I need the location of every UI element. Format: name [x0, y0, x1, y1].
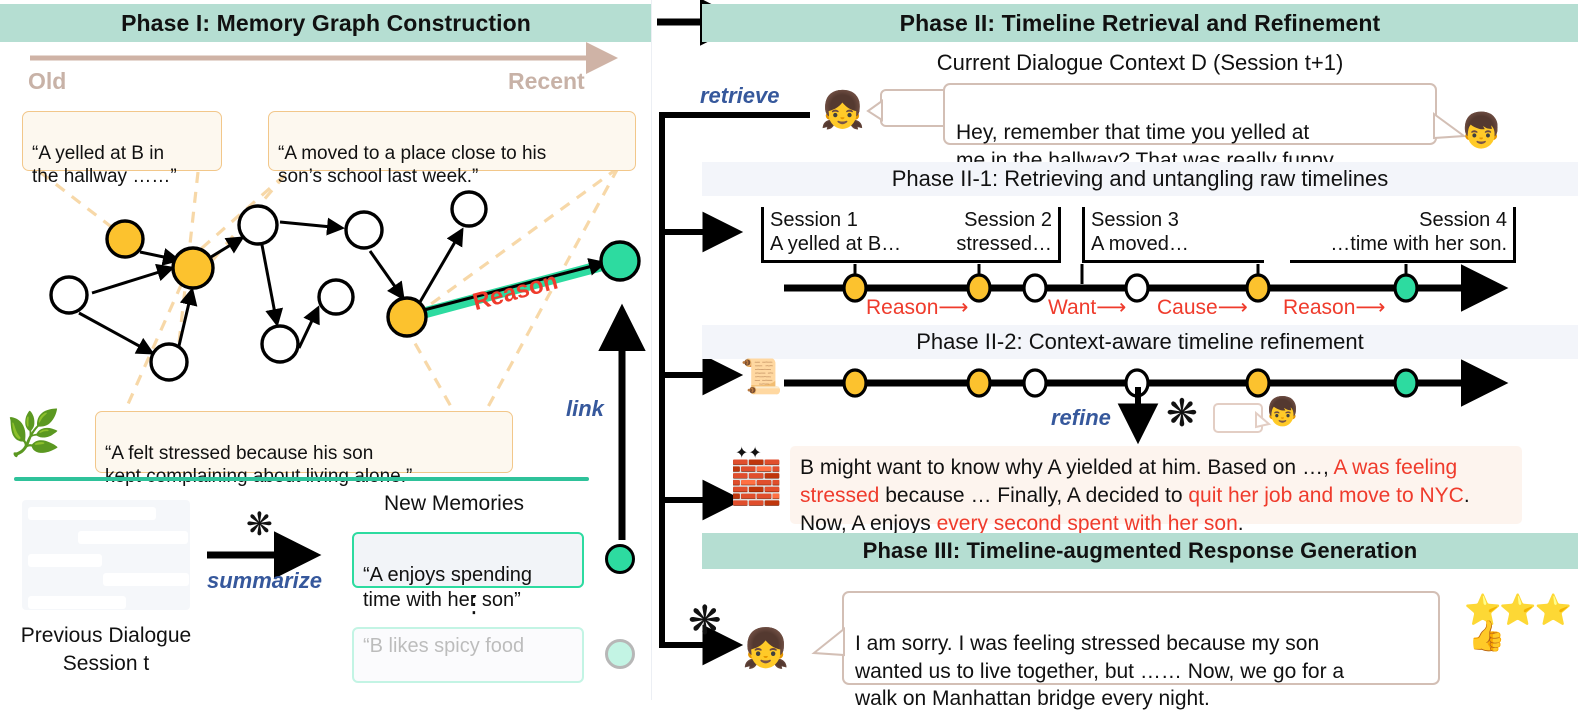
new-memory-1: “A enjoys spending time with her son” [352, 532, 584, 588]
placeholder-line [103, 573, 189, 586]
refined-summary-box: B might want to know why A yielded at hi… [790, 446, 1522, 524]
link-label: link [566, 396, 604, 422]
relation-label-2: Want⟶ [1048, 295, 1126, 320]
new-memory-2: “B likes spicy food [352, 627, 584, 683]
avatar-boy-small: 👦 [1265, 398, 1300, 426]
timeline-dot [844, 370, 866, 396]
assistant-response-bubble: I am sorry. I was feeling stressed becau… [842, 591, 1440, 685]
avatar-boy-right: 👦 [1460, 114, 1502, 148]
link-arrow [600, 300, 650, 545]
relation-arrow-icon: ⟶ [1218, 296, 1248, 319]
refined-plain: B might want to know why A yielded at hi… [800, 456, 1333, 479]
column-divider [651, 0, 652, 700]
refined-highlight: quit her job and move to NYC [1188, 484, 1463, 507]
section-divider [14, 477, 589, 481]
assistant-response-text: I am sorry. I was feeling stressed becau… [855, 632, 1344, 710]
session-2-title: Session 2 [919, 209, 1052, 233]
session-3-title: Session 3 [1091, 209, 1264, 233]
timeline-dot [1247, 275, 1269, 301]
new-memory-1-text: “A enjoys spending time with her son” [363, 564, 532, 610]
new-memory-node-1 [605, 544, 635, 574]
session-1-title: Session 1 [770, 209, 919, 233]
new-memory-2-text: “B likes spicy food [363, 635, 524, 657]
avatar-girl-response: 👧 [742, 630, 789, 668]
timeline-dot [1024, 370, 1046, 396]
timeline-dot [1126, 275, 1148, 301]
phase2-banner-label: Phase II: Timeline Retrieval and Refinem… [900, 10, 1381, 37]
treasure-chest-icon: 🧱 [730, 462, 782, 504]
relation-4-text: Reason [1283, 296, 1355, 319]
new-memories-ellipsis: ⋮ [462, 590, 486, 619]
openai-logo-icon: ❋ [688, 601, 722, 641]
timeline-dot [1247, 370, 1269, 396]
phase3-banner: Phase III: Timeline-augmented Response G… [702, 533, 1578, 569]
refined-summary-text: B might want to know why A yielded at hi… [800, 456, 1470, 535]
raw-timeline [700, 270, 1578, 310]
phase2-1-banner-label: Phase II-1: Retrieving and untangling ra… [892, 166, 1389, 192]
relation-arrow-icon: ⟶ [1096, 296, 1126, 319]
relation-label-1: Reason⟶ [866, 295, 969, 320]
openai-logo-icon: ❋ [1166, 395, 1198, 433]
relation-1-text: Reason [866, 296, 938, 319]
placeholder-line [28, 554, 102, 567]
user-utterance-bubble: Hey, remember that time you yelled at me… [943, 83, 1437, 145]
refined-plain: . [1238, 512, 1244, 535]
phase2-banner: Phase II: Timeline Retrieval and Refinem… [702, 4, 1578, 42]
session-4-title: Session 4 [1290, 209, 1507, 233]
previous-dialogue-caption: Previous Dialogue Session t [6, 622, 206, 679]
timeline-dot [844, 275, 866, 301]
timeline-dot [968, 275, 990, 301]
placeholder-line [28, 507, 156, 520]
placeholder-line [28, 596, 126, 609]
phase2-2-banner-label: Phase II-2: Context-aware timeline refin… [916, 329, 1364, 355]
timeline-dot [1024, 275, 1046, 301]
relation-arrow-icon: ⟶ [938, 296, 968, 319]
current-context-title: Current Dialogue Context D (Session t+1) [702, 50, 1578, 76]
openai-logo-icon: ❋ [246, 508, 273, 540]
timeline-dot [968, 370, 990, 396]
relation-2-text: Want [1048, 296, 1096, 319]
relation-arrow-icon: ⟶ [1355, 296, 1385, 319]
refined-highlight: every second spent with her son [937, 512, 1238, 535]
plant-icon: 🌿 [6, 412, 61, 456]
timeline-dot [1395, 370, 1417, 396]
refined-plain: because … Finally, A decided to [879, 484, 1188, 507]
summarize-label: summarize [207, 568, 322, 594]
memory-graph [0, 0, 660, 420]
prev-dialogue-line2: Session t [6, 650, 206, 678]
thumbs-up-rating-icon: ⭐⭐⭐ 👍 [1458, 596, 1570, 652]
placeholder-line [78, 531, 188, 544]
prev-dialogue-line1: Previous Dialogue [6, 622, 206, 650]
empty-bubble-tail [866, 100, 886, 122]
timeline-dot [1395, 275, 1417, 301]
relation-label-3: Cause⟶ [1157, 295, 1248, 320]
new-memories-title: New Memories [384, 492, 524, 516]
avatar-girl-left: 👧 [820, 92, 865, 128]
relation-3-text: Cause [1157, 296, 1218, 319]
phase3-banner-label: Phase III: Timeline-augmented Response G… [863, 538, 1418, 564]
phase2-1-banner: Phase II-1: Retrieving and untangling ra… [702, 162, 1578, 196]
phase2-2-banner: Phase II-2: Context-aware timeline refin… [702, 325, 1578, 359]
summarize-arrow [205, 543, 335, 569]
relation-label-4: Reason⟶ [1283, 295, 1386, 320]
assistant-bubble-tail [812, 625, 846, 659]
new-memory-node-2 [605, 639, 635, 669]
refine-label: refine [1051, 405, 1111, 431]
memo-bottom: “A felt stressed because his son kept co… [95, 411, 513, 473]
